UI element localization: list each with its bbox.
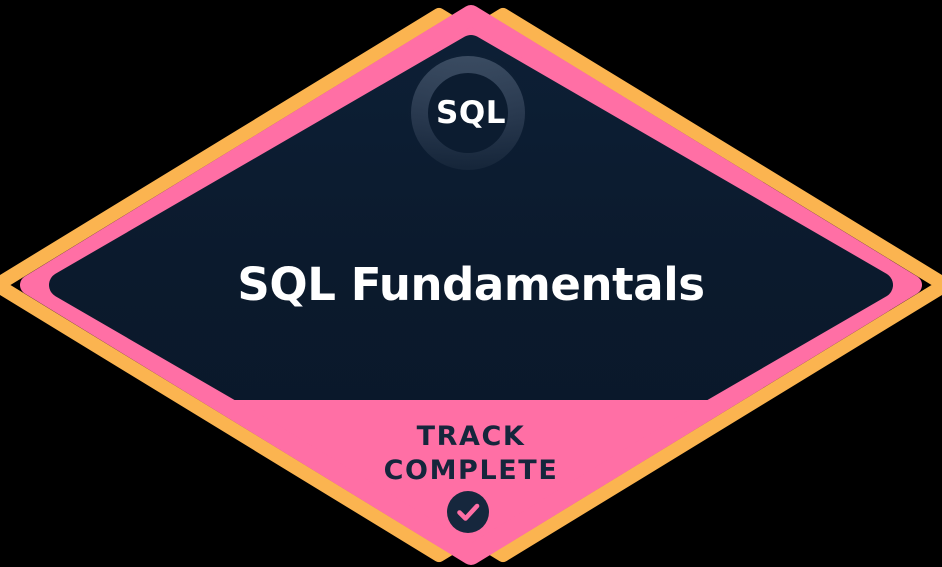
check-circle-icon [447, 491, 489, 533]
track-badge-card[interactable]: SQL SQL Fundamentals TRACK COMPLETE [0, 0, 942, 567]
sql-ring-icon [406, 51, 530, 175]
badge-graphic [0, 0, 942, 567]
